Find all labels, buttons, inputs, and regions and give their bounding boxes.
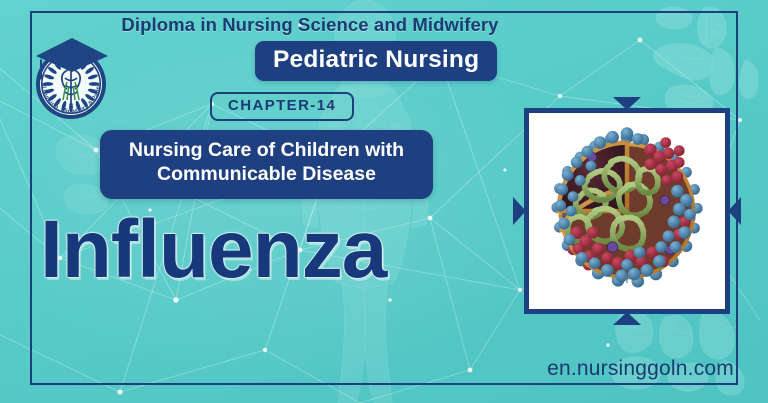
illustration-image bbox=[537, 121, 717, 301]
slide-canvas: Gurukul Nursing, Midwifery & Patient Car… bbox=[0, 0, 768, 403]
influenza-virus-cross-section-icon bbox=[537, 121, 717, 301]
illustration-frame bbox=[524, 108, 730, 314]
course-badge: Pediatric Nursing bbox=[255, 41, 497, 81]
chapter-badge: CHAPTER-14 bbox=[210, 92, 354, 121]
illustration-container bbox=[524, 108, 730, 314]
page-title: Diploma in Nursing Science and Midwifery bbox=[100, 14, 520, 36]
graduation-cap-caduceus-emblem-icon: Gurukul Nursing, Midwifery & Patient Car… bbox=[22, 22, 118, 126]
main-heading: Influenza bbox=[40, 209, 386, 291]
unit-title-badge: Nursing Care of Children with Communicab… bbox=[100, 130, 433, 199]
website-url: en.nursinggoln.com bbox=[547, 357, 734, 381]
institution-logo: Gurukul Nursing, Midwifery & Patient Car… bbox=[22, 22, 118, 126]
